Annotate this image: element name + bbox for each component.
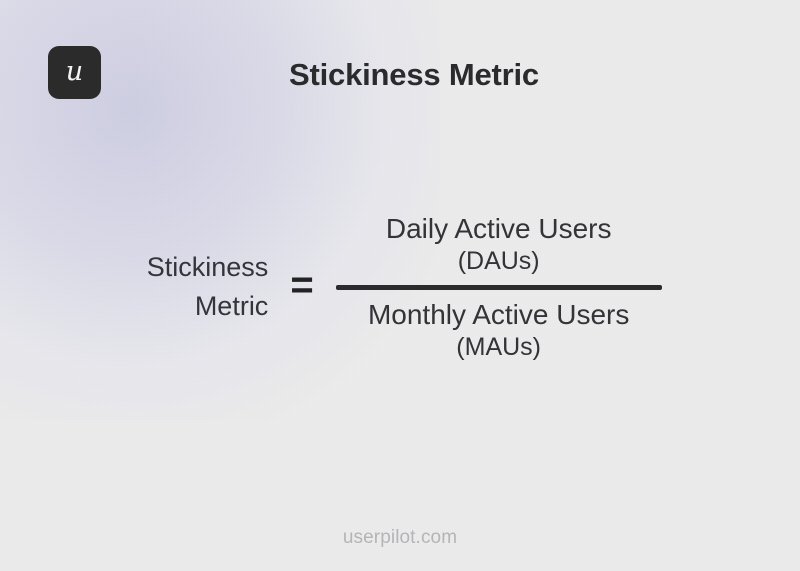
- footer-watermark: userpilot.com: [0, 527, 800, 549]
- slide-canvas: u Stickiness Metric Stickiness Metric = …: [0, 0, 800, 571]
- formula-left-label: Stickiness Metric: [138, 248, 268, 327]
- numerator-abbreviation: (DAUs): [386, 246, 612, 277]
- page-title: Stickiness Metric: [0, 57, 800, 93]
- denominator-main-text: Monthly Active Users: [368, 298, 629, 332]
- fraction-numerator: Daily Active Users (DAUs): [386, 212, 612, 285]
- fraction: Daily Active Users (DAUs) Monthly Active…: [336, 212, 662, 362]
- numerator-main-text: Daily Active Users: [386, 212, 612, 246]
- formula-left-label-line1: Stickiness: [138, 248, 268, 287]
- equals-operator: =: [290, 265, 313, 305]
- denominator-abbreviation: (MAUs): [368, 332, 629, 363]
- fraction-denominator: Monthly Active Users (MAUs): [368, 290, 629, 362]
- formula-block: Stickiness Metric = Daily Active Users (…: [0, 212, 800, 362]
- formula-left-label-line2: Metric: [138, 287, 268, 326]
